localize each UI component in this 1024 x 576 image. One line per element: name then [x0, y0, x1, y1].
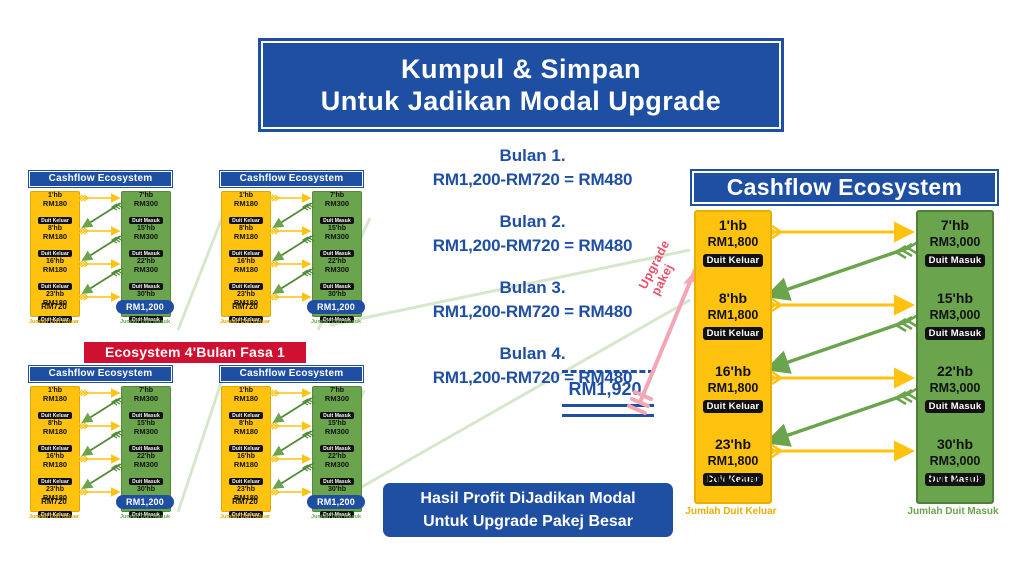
mini-outflow-caption: Jumlah Duit Keluar [23, 319, 85, 326]
mini-inflow-caption: Jumlah Duit Masuk [114, 514, 176, 521]
big-row-tag: Duit Keluar [703, 254, 764, 267]
mini-row-amount: RM300 [313, 200, 361, 209]
mini-outflow-row: 1'hbRM180Duit Keluar [222, 387, 270, 413]
mini-inflow-row: 15'hbRM300Duit Masuk [122, 225, 170, 251]
mini-row-amount: RM180 [31, 428, 79, 437]
big-inflow-caption: Jumlah Duit Masuk [907, 506, 999, 518]
big-row-period: 16'hb [696, 363, 770, 380]
mini-row-amount: RM300 [313, 461, 361, 470]
calc-month-equation: RM1,200-RM720 = RM480 [390, 233, 675, 258]
mini-outflow-row: 16'hbRM180Duit Keluar [31, 453, 79, 479]
mini-outflow-row: 16'hbRM180Duit Keluar [31, 258, 79, 284]
page-title: Kumpul & Simpan Untuk Jadikan Modal Upgr… [258, 38, 784, 132]
mini-inflow-column: 7'hbRM300Duit Masuk15'hbRM300Duit Masuk2… [312, 386, 362, 512]
mini-row-amount: RM300 [313, 266, 361, 275]
mini-row-tag: Duit Masuk [129, 412, 163, 419]
big-row-amount: RM1,800 [696, 453, 770, 469]
calc-double-rule [562, 404, 654, 417]
mini-outflow-row: 8'hbRM180Duit Keluar [31, 225, 79, 251]
mini-row-amount: RM180 [222, 428, 270, 437]
mini-row-tag: Duit Keluar [38, 412, 72, 419]
mini-outflow-total: RM720 [30, 497, 78, 506]
mini-row-amount: RM180 [222, 266, 270, 275]
mini-row-amount: RM180 [222, 233, 270, 242]
calc-month-block: Bulan 2.RM1,200-RM720 = RM480 [390, 210, 675, 258]
mini-inflow-caption: Jumlah Duit Masuk [114, 319, 176, 326]
mini-row-tag: Duit Masuk [320, 445, 354, 452]
calc-month-label: Bulan 1. [390, 144, 675, 167]
mini-inflow-row: 15'hbRM300Duit Masuk [313, 420, 361, 446]
mini-inflow-caption: Jumlah Duit Masuk [305, 319, 367, 326]
inflow-arrows [768, 248, 908, 442]
mini-row-amount: RM300 [122, 233, 170, 242]
monthly-calculation-list: Bulan 1.RM1,200-RM720 = RM480Bulan 2.RM1… [390, 144, 675, 408]
mini-row-tag: Duit Keluar [38, 250, 72, 257]
mini-row-tag: Duit Masuk [129, 250, 163, 257]
mini-row-tag: Duit Masuk [129, 283, 163, 290]
mini-row-tag: Duit Masuk [320, 250, 354, 257]
big-panel-header: Cashflow Ecosystem [690, 169, 999, 206]
mini-outflow-column: 1'hbRM180Duit Keluar8'hbRM180Duit Keluar… [30, 191, 80, 317]
profit-callout-box: Hasil Profit DiJadikan Modal Untuk Upgra… [383, 483, 673, 537]
mini-panel-header: Cashflow Ecosystem [28, 170, 173, 188]
mini-outflow-arrows [84, 393, 119, 492]
big-in-total: RM12,000 [918, 471, 992, 486]
mini-row-tag: Duit Keluar [38, 217, 72, 224]
mini-inflow-arrows [83, 400, 118, 488]
mini-outflow-total: RM720 [221, 302, 269, 311]
big-row-period: 23'hb [696, 436, 770, 453]
mini-inflow-total-badge: RM1,200 [307, 495, 365, 509]
big-out-row: 16'hbRM1,800Duit Keluar [696, 363, 770, 414]
mini-inflow-row: 7'hbRM300Duit Masuk [313, 387, 361, 413]
mini-inflow-row: 15'hbRM300Duit Masuk [122, 420, 170, 446]
title-line-2: Untuk Jadikan Modal Upgrade [321, 85, 722, 117]
mini-inflow-arrows [274, 400, 309, 488]
mini-outflow-row: 1'hbRM180Duit Keluar [222, 192, 270, 218]
calc-month-equation: RM1,200-RM720 = RM480 [390, 167, 675, 192]
mini-inflow-total-badge: RM1,200 [307, 300, 365, 314]
big-row-period: 15'hb [918, 290, 992, 307]
mini-inflow-caption: Jumlah Duit Masuk [305, 514, 367, 521]
big-row-period: 22'hb [918, 363, 992, 380]
mini-inflow-row: 7'hbRM300Duit Masuk [122, 192, 170, 218]
mini-inflow-total-badge: RM1,200 [116, 495, 174, 509]
mini-row-tag: Duit Keluar [229, 445, 263, 452]
mini-outflow-caption: Jumlah Duit Keluar [214, 514, 276, 521]
big-row-amount: RM1,800 [696, 380, 770, 396]
big-out-row: 1'hbRM1,800Duit Keluar [696, 217, 770, 268]
inflow-arrow-fletchings [896, 242, 918, 404]
mini-row-amount: RM180 [222, 395, 270, 404]
mini-row-tag: Duit Keluar [229, 478, 263, 485]
mini-inflow-row: 15'hbRM300Duit Masuk [313, 225, 361, 251]
big-row-amount: RM1,800 [696, 234, 770, 250]
big-row-amount: RM3,000 [918, 307, 992, 323]
calc-month-block: Bulan 3.RM1,200-RM720 = RM480 [390, 276, 675, 324]
mini-row-amount: RM300 [313, 428, 361, 437]
mini-outflow-row: 8'hbRM180Duit Keluar [222, 225, 270, 251]
big-row-amount: RM1,800 [696, 307, 770, 323]
mini-panel-header: Cashflow Ecosystem [28, 365, 173, 383]
mini-inflow-row: 7'hbRM300Duit Masuk [122, 387, 170, 413]
mini-inflow-arrows [274, 205, 309, 293]
mini-ecosystem-panel: Cashflow Ecosystem1'hbRM180Duit Keluar8'… [22, 170, 177, 342]
mini-row-amount: RM300 [122, 461, 170, 470]
big-row-period: 1'hb [696, 217, 770, 234]
mini-row-amount: RM300 [122, 266, 170, 275]
big-row-tag: Duit Keluar [703, 400, 764, 413]
mini-outflow-arrows [84, 198, 119, 297]
mini-row-amount: RM300 [122, 428, 170, 437]
mini-row-amount: RM300 [122, 395, 170, 404]
big-row-period: 7'hb [918, 217, 992, 234]
mini-inflow-total-badge: RM1,200 [116, 300, 174, 314]
mini-row-tag: Duit Keluar [229, 217, 263, 224]
mini-row-tag: Duit Keluar [229, 283, 263, 290]
mini-row-tag: Duit Masuk [129, 217, 163, 224]
mini-row-tag: Duit Keluar [38, 283, 72, 290]
phase-banner: Ecosystem 4'Bulan Fasa 1 [84, 342, 306, 363]
big-row-amount: RM3,000 [918, 380, 992, 396]
mini-outflow-row: 8'hbRM180Duit Keluar [31, 420, 79, 446]
mini-inflow-row: 22'hbRM300Duit Masuk [122, 258, 170, 284]
outflow-arrows [772, 232, 912, 451]
mini-outflow-column: 1'hbRM180Duit Keluar8'hbRM180Duit Keluar… [221, 386, 271, 512]
big-in-row: 15'hbRM3,000Duit Masuk [918, 290, 992, 341]
calc-dashed-rule [562, 370, 654, 373]
mini-inflow-row: 22'hbRM300Duit Masuk [313, 453, 361, 479]
mini-outflow-row: 8'hbRM180Duit Keluar [222, 420, 270, 446]
mini-ecosystem-panel: Cashflow Ecosystem1'hbRM180Duit Keluar8'… [213, 170, 368, 342]
mini-outflow-caption: Jumlah Duit Keluar [214, 319, 276, 326]
mini-row-amount: RM180 [31, 233, 79, 242]
mini-ecosystem-panel: Cashflow Ecosystem1'hbRM180Duit Keluar8'… [22, 365, 177, 537]
mini-ecosystem-panel: Cashflow Ecosystem1'hbRM180Duit Keluar8'… [213, 365, 368, 537]
big-row-period: 30'hb [918, 436, 992, 453]
mini-row-amount: RM180 [222, 461, 270, 470]
mini-row-tag: Duit Masuk [129, 445, 163, 452]
mini-outflow-total: RM720 [30, 302, 78, 311]
mini-panel-header: Cashflow Ecosystem [219, 365, 364, 383]
mini-row-amount: RM180 [222, 200, 270, 209]
big-row-tag: Duit Masuk [925, 400, 986, 413]
mini-row-tag: Duit Masuk [129, 478, 163, 485]
mini-inflow-column: 7'hbRM300Duit Masuk15'hbRM300Duit Masuk2… [312, 191, 362, 317]
mini-row-amount: RM300 [313, 395, 361, 404]
big-out-row: 8'hbRM1,800Duit Keluar [696, 290, 770, 341]
mini-outflow-column: 1'hbRM180Duit Keluar8'hbRM180Duit Keluar… [30, 386, 80, 512]
big-outflow-column: 1'hbRM1,800Duit Keluar8'hbRM1,800Duit Ke… [694, 210, 772, 504]
mini-outflow-arrows [275, 198, 310, 297]
calc-month-label: Bulan 2. [390, 210, 675, 233]
mini-row-tag: Duit Keluar [229, 250, 263, 257]
mini-outflow-caption: Jumlah Duit Keluar [23, 514, 85, 521]
mini-row-tag: Duit Keluar [38, 445, 72, 452]
calc-month-label: Bulan 4. [390, 342, 675, 365]
big-outflow-caption: Jumlah Duit Keluar [685, 506, 777, 518]
mini-row-amount: RM300 [122, 200, 170, 209]
slide-canvas: Kumpul & Simpan Untuk Jadikan Modal Upgr… [0, 0, 1024, 576]
big-row-tag: Duit Masuk [925, 254, 986, 267]
mini-panel-header: Cashflow Ecosystem [219, 170, 364, 188]
mini-inflow-row: 7'hbRM300Duit Masuk [313, 192, 361, 218]
calc-grand-total: RM1,920 [540, 378, 670, 400]
big-out-total: RM7,200 [696, 471, 770, 486]
mini-outflow-row: 16'hbRM180Duit Keluar [222, 453, 270, 479]
mini-row-tag: Duit Masuk [320, 412, 354, 419]
mini-inflow-row: 22'hbRM300Duit Masuk [122, 453, 170, 479]
mini-inflow-column: 7'hbRM300Duit Masuk15'hbRM300Duit Masuk2… [121, 386, 171, 512]
mini-outflow-column: 1'hbRM180Duit Keluar8'hbRM180Duit Keluar… [221, 191, 271, 317]
mini-inflow-arrows [83, 205, 118, 293]
mini-outflow-row: 16'hbRM180Duit Keluar [222, 258, 270, 284]
mini-row-tag: Duit Keluar [38, 478, 72, 485]
big-inflow-column: 7'hbRM3,000Duit Masuk15'hbRM3,000Duit Ma… [916, 210, 994, 504]
mini-outflow-total: RM720 [221, 497, 269, 506]
mini-row-tag: Duit Masuk [320, 478, 354, 485]
calc-month-equation: RM1,200-RM720 = RM480 [390, 299, 675, 324]
mini-outflow-row: 1'hbRM180Duit Keluar [31, 387, 79, 413]
big-row-amount: RM3,000 [918, 453, 992, 469]
big-in-row: 22'hbRM3,000Duit Masuk [918, 363, 992, 414]
mini-outflow-arrows [275, 393, 310, 492]
mini-inflow-row: 22'hbRM300Duit Masuk [313, 258, 361, 284]
title-line-1: Kumpul & Simpan [401, 53, 641, 85]
big-row-period: 8'hb [696, 290, 770, 307]
mini-row-tag: Duit Masuk [320, 283, 354, 290]
calc-month-block: Bulan 1.RM1,200-RM720 = RM480 [390, 144, 675, 192]
big-row-tag: Duit Masuk [925, 327, 986, 340]
calc-month-label: Bulan 3. [390, 276, 675, 299]
mini-outflow-row: 1'hbRM180Duit Keluar [31, 192, 79, 218]
profit-line-2: Untuk Upgrade Pakej Besar [423, 510, 633, 533]
big-in-row: 7'hbRM3,000Duit Masuk [918, 217, 992, 268]
profit-line-1: Hasil Profit DiJadikan Modal [420, 487, 635, 510]
big-row-tag: Duit Keluar [703, 327, 764, 340]
mini-row-amount: RM180 [31, 266, 79, 275]
mini-row-tag: Duit Masuk [320, 217, 354, 224]
mini-row-tag: Duit Keluar [229, 412, 263, 419]
mini-row-amount: RM180 [31, 200, 79, 209]
big-row-amount: RM3,000 [918, 234, 992, 250]
mini-row-amount: RM180 [31, 395, 79, 404]
mini-row-amount: RM180 [31, 461, 79, 470]
mini-row-amount: RM300 [313, 233, 361, 242]
mini-inflow-column: 7'hbRM300Duit Masuk15'hbRM300Duit Masuk2… [121, 191, 171, 317]
